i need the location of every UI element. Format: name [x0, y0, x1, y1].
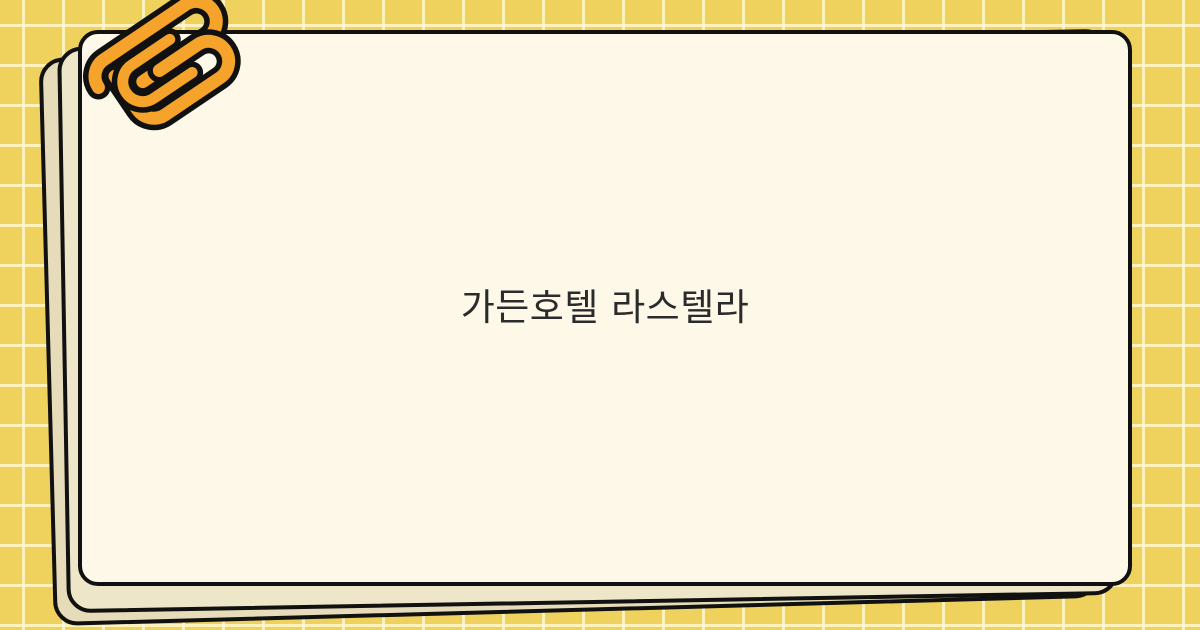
note-card-stack: 가든호텔 라스텔라 — [0, 0, 1200, 630]
page-canvas: 가든호텔 라스텔라 — [0, 0, 1200, 630]
page-title: 가든호텔 라스텔라 — [461, 283, 750, 333]
note-card-front[interactable]: 가든호텔 라스텔라 — [78, 30, 1132, 586]
